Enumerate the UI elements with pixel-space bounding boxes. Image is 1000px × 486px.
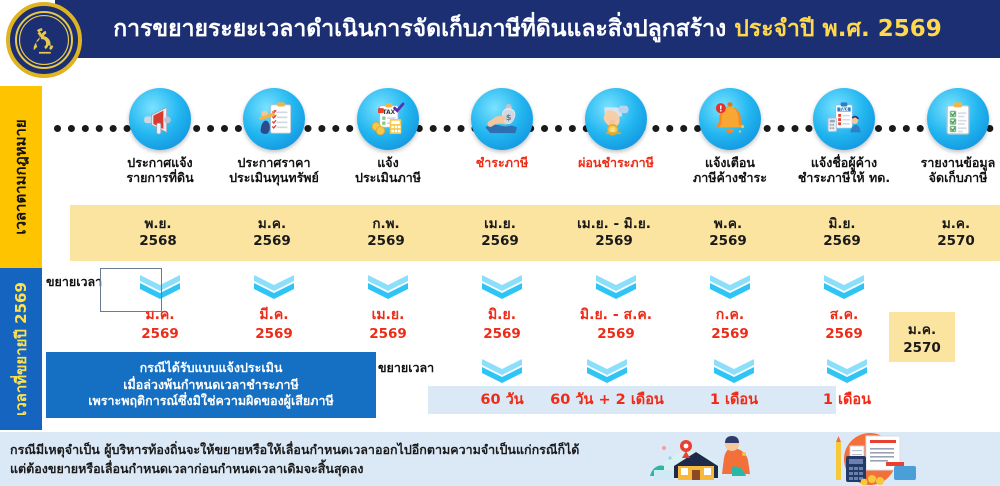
timeline-step-3: TAXแจ้ง ประเมินภาษี (330, 88, 446, 186)
chevron-down-icon (584, 356, 630, 386)
extended-date-row: ม.ค.2569 มี.ค.2569 เม.ย.2569 มิ.ย.2569 ม… (42, 268, 1000, 358)
tax-form-icon: TAX (357, 88, 419, 150)
chevron-down-icon (365, 272, 411, 302)
sidebar-tab-legal-time: เวลาตามกฎหมาย (0, 86, 42, 268)
chevron-down-icon (251, 272, 297, 302)
footer-line-2: แต่ต้องขยายหรือเลื่อนกำหนดเวลาก่อนกำหนดเ… (10, 460, 640, 479)
extended-date-year: 2569 (483, 326, 521, 342)
extended-date-cell-4: มิ.ย.2569 (444, 272, 560, 342)
extended-date-year: 2569 (141, 326, 179, 342)
svg-text:TAX: TAX (840, 107, 850, 112)
extended-date-cell-2: มี.ค.2569 (216, 272, 332, 342)
tax-document-calculator-illustration-icon (808, 432, 938, 486)
chevron-down-icon (593, 272, 639, 302)
alert-bell-icon: ! (699, 88, 761, 150)
first-extension-highlight-box (100, 268, 162, 312)
legal-date-month: มิ.ย. (828, 216, 855, 233)
extended-date-cell-6: ก.ค.2569 (672, 272, 788, 342)
timeline-step-7: TAXแจ้งชื่อผู้ค้าง ชำระภาษีให้ ทด. (786, 88, 902, 186)
timeline-step-label: รายงานข้อมูล จัดเก็บภาษี (921, 156, 996, 186)
checklist-report-icon (927, 88, 989, 150)
legal-date-month: ก.พ. (372, 216, 399, 233)
timeline-step-5: ผ่อนชำระภาษี (558, 88, 674, 171)
legal-date-year: 2569 (595, 233, 633, 250)
timeline-step-label: ชำระภาษี (476, 156, 528, 171)
extended-date-year: 2569 (369, 326, 407, 342)
chevron-down-icon (707, 272, 753, 302)
extended-date-year: 2569 (711, 326, 749, 342)
svg-text:TAX: TAX (383, 110, 396, 116)
legal-date-year: 2570 (937, 233, 975, 250)
extended-date-cell-3: เม.ย.2569 (330, 272, 446, 342)
duration-text: 1 เดือน (823, 388, 871, 411)
extended-date-year: 2569 (255, 326, 293, 342)
legal-date-month: เม.ย. - มิ.ย. (577, 216, 651, 233)
ministry-of-interior-singha-emblem-icon (6, 2, 82, 78)
chevron-down-icon (824, 356, 870, 386)
extended-date-month: มิ.ย. (488, 304, 516, 326)
footer-line-1: กรณีมีเหตุจำเป็น ผู้บริหารท้องถิ่นจะให้ข… (10, 441, 640, 460)
page-header: การขยายระยะเวลาดำเนินการจัดเก็บภาษีที่ดิ… (55, 0, 1000, 58)
legal-date-cell-7: มิ.ย.2569 (784, 205, 900, 261)
extended-date-month: ส.ค. (830, 304, 859, 326)
legal-date-month: พ.ย. (144, 216, 171, 233)
page-title-main: การขยายระยะเวลาดำเนินการจัดเก็บภาษีที่ดิ… (113, 16, 726, 42)
footer-note: กรณีมีเหตุจำเป็น ผู้บริหารท้องถิ่นจะให้ข… (10, 441, 640, 479)
timeline-step-label: ผ่อนชำระภาษี (578, 156, 654, 171)
legal-date-cell-2: ม.ค.2569 (214, 205, 330, 261)
legal-date-cell-8: ม.ค.2570 (898, 205, 1000, 261)
duration-text: 60 วัน (480, 388, 523, 411)
duration-cell-4: 1 เดือน (772, 356, 922, 411)
page-title: การขยายระยะเวลาดำเนินการจัดเก็บภาษีที่ดิ… (113, 11, 942, 47)
extended-date-month: เม.ย. (372, 304, 405, 326)
svg-text:$: $ (506, 112, 512, 122)
chevron-down-icon (479, 356, 525, 386)
sidebar-tab-extended-time-label: เวลาที่ขยายปี 2569 (9, 282, 33, 416)
chevron-down-icon (479, 272, 525, 302)
legal-date-cell-6: พ.ค.2569 (670, 205, 786, 261)
legal-date-year: 2569 (367, 233, 405, 250)
extended-date-month: ก.ค. (716, 304, 744, 326)
page-title-highlight: ประจำปี พ.ศ. 2569 (734, 16, 942, 42)
timeline-step-6: !แจ้งเตือน ภาษีค้างชำระ (672, 88, 788, 186)
timeline-step-label: ประกาศแจ้ง รายการที่ดิน (126, 156, 193, 186)
timeline-step-label: แจ้ง ประเมินภาษี (355, 156, 421, 186)
timeline-step-label: แจ้งชื่อผู้ค้าง ชำระภาษีให้ ทด. (798, 156, 890, 186)
duration-row: 60 วัน 60 วัน + 2 เดือน 1 เดือน 1 เดือน (42, 356, 1000, 418)
megaphone-icon (129, 88, 191, 150)
chevron-down-icon (821, 272, 867, 302)
sidebar-tab-legal-time-label: เวลาตามกฎหมาย (9, 119, 33, 234)
chevron-down-icon (711, 356, 757, 386)
legal-date-month: ม.ค. (942, 216, 970, 233)
legal-date-cell-3: ก.พ.2569 (328, 205, 444, 261)
legal-date-year: 2569 (823, 233, 861, 250)
duration-text: 60 วัน + 2 เดือน (550, 388, 664, 411)
legal-date-month: เม.ย. (484, 216, 516, 233)
legal-date-year: 2569 (709, 233, 747, 250)
svg-text:!: ! (719, 104, 723, 114)
tax-debtor-list-icon: TAX (813, 88, 875, 150)
clipboard-pencil-icon (243, 88, 305, 150)
legal-date-cell-5: เม.ย. - มิ.ย.2569 (556, 205, 672, 261)
legal-date-year: 2569 (253, 233, 291, 250)
extended-date-cell-7: ส.ค.2569 (786, 272, 902, 342)
legal-date-year: 2568 (139, 233, 177, 250)
legal-date-cell-1: พ.ย.2568 (100, 205, 216, 261)
extended-date-month: มิ.ย. - ส.ค. (580, 304, 652, 326)
extended-date-year: 2569 (597, 326, 635, 342)
timeline-icon-row: ประกาศแจ้ง รายการที่ดินประกาศราคา ประเมิ… (42, 88, 1000, 200)
emblem-inner (15, 11, 73, 69)
timeline-step-label: แจ้งเตือน ภาษีค้างชำระ (693, 156, 767, 186)
final-chip-year: 2570 (903, 340, 941, 356)
timeline-step-1: ประกาศแจ้ง รายการที่ดิน (102, 88, 218, 186)
extended-date-month: มี.ค. (259, 304, 288, 326)
extended-date-cell-5: มิ.ย. - ส.ค.2569 (558, 272, 674, 342)
legal-date-band: พ.ย.2568ม.ค.2569ก.พ.2569เม.ย.2569เม.ย. -… (70, 205, 1000, 261)
legal-date-year: 2569 (481, 233, 519, 250)
final-chip-month: ม.ค. (908, 318, 936, 340)
money-bag-hand-icon: $ (471, 88, 533, 150)
extended-date-year: 2569 (825, 326, 863, 342)
legal-date-month: พ.ค. (714, 216, 742, 233)
timeline-step-label: ประกาศราคา ประเมินทุนทรัพย์ (229, 156, 319, 186)
final-report-date-chip: ม.ค. 2570 (889, 312, 955, 362)
timeline-step-4: $ชำระภาษี (444, 88, 560, 171)
duration-text: 1 เดือน (710, 388, 758, 411)
house-inspector-illustration-icon (636, 432, 826, 486)
legal-date-cell-4: เม.ย.2569 (442, 205, 558, 261)
coin-drop-hand-icon (585, 88, 647, 150)
sidebar-tab-extended-time: เวลาที่ขยายปี 2569 (0, 268, 42, 430)
timeline-step-8: รายงานข้อมูล จัดเก็บภาษี (900, 88, 1000, 186)
legal-date-month: ม.ค. (258, 216, 286, 233)
timeline-step-2: ประกาศราคา ประเมินทุนทรัพย์ (216, 88, 332, 186)
